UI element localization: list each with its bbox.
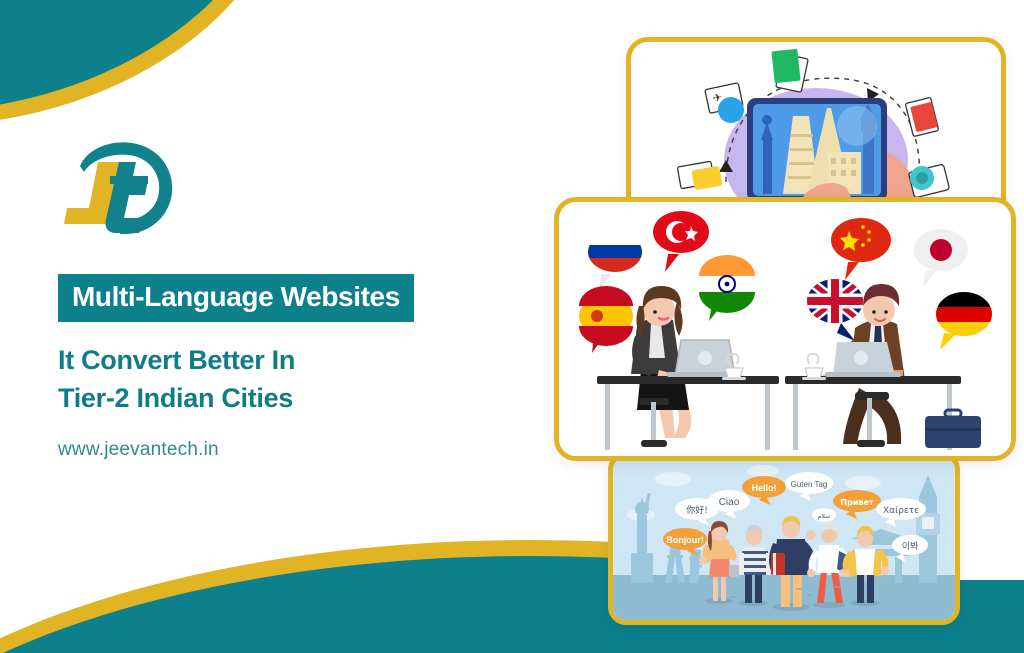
svg-text:Bonjour!: Bonjour! [666,535,704,545]
svg-text:Привет: Привет [840,498,874,507]
left-desk [597,376,779,384]
svg-text:Χαίρετε: Χαίρετε [883,506,919,516]
greeting-bubble-salam: سلام [812,508,836,522]
svg-text:Hello!: Hello! [751,483,776,493]
svg-text:Guten Tag: Guten Tag [791,480,828,489]
card-flag-conversation [554,197,1016,461]
jt-logo-icon [58,140,176,236]
promo-banner: Multi-Language Websites It Convert Bette… [0,0,1024,653]
headline-subhead: It Convert Better In Tier-2 Indian Citie… [58,341,518,418]
svg-text:سلام: سلام [818,513,830,520]
website-url: www.jeevantech.in [58,439,518,461]
top-left-corner-decoration [0,0,290,120]
card-multilingual-people: Bonjour! 你好! Ciao Hello! Guten Tag [608,452,960,625]
svg-text:Ciao: Ciao [719,497,740,508]
headline-title-bar: Multi-Language Websites [58,274,414,322]
svg-text:你好!: 你好! [686,504,708,516]
multilingual-greetings-illustration: Bonjour! 你好! Ciao Hello! Guten Tag [613,457,955,620]
flag-conversation-illustration [559,202,1011,456]
jt-logo [58,140,176,236]
text-column: Multi-Language Websites It Convert Bette… [58,140,518,461]
svg-text:이봐: 이봐 [902,541,919,552]
